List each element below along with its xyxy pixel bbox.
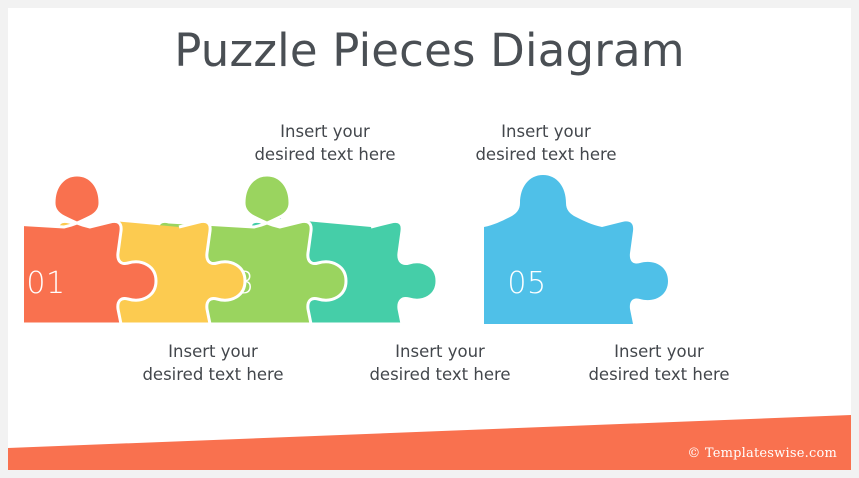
callout-bottom-3-line2: desired text here	[564, 363, 754, 386]
callout-bottom-2: Insert your desired text here	[345, 340, 535, 387]
puzzle-piece-05-number: 05	[507, 266, 546, 301]
callout-top-1-line2: desired text here	[230, 143, 420, 166]
callout-bottom-3-line1: Insert your	[564, 340, 754, 363]
callout-bottom-1-line1: Insert your	[118, 340, 308, 363]
callout-top-1-line1: Insert your	[230, 120, 420, 143]
slide-frame: Puzzle Pieces Diagram 05 04	[0, 0, 859, 478]
callout-bottom-1-line2: desired text here	[118, 363, 308, 386]
puzzle-diagram: 05 04 03 02	[24, 165, 784, 330]
callout-top-2-line2: desired text here	[451, 143, 641, 166]
callout-bottom-2-line2: desired text here	[345, 363, 535, 386]
copyright-credit: © Templateswise.com	[687, 446, 837, 461]
callout-bottom-1: Insert your desired text here	[118, 340, 308, 387]
puzzle-piece-05-shape[interactable]	[484, 175, 668, 324]
puzzle-piece-05[interactable]: 05	[484, 175, 668, 324]
slide-canvas: Puzzle Pieces Diagram 05 04	[8, 8, 851, 470]
callout-top-2-line1: Insert your	[451, 120, 641, 143]
puzzle-svg: 05 04 03 02	[24, 165, 784, 330]
puzzle-piece-01-number: 01	[26, 266, 65, 301]
callout-bottom-2-line1: Insert your	[345, 340, 535, 363]
footer-band-shape	[8, 415, 851, 470]
callout-top-2: Insert your desired text here	[451, 120, 641, 167]
page-title: Puzzle Pieces Diagram	[8, 24, 851, 77]
callout-top-1: Insert your desired text here	[230, 120, 420, 167]
callout-bottom-3: Insert your desired text here	[564, 340, 754, 387]
